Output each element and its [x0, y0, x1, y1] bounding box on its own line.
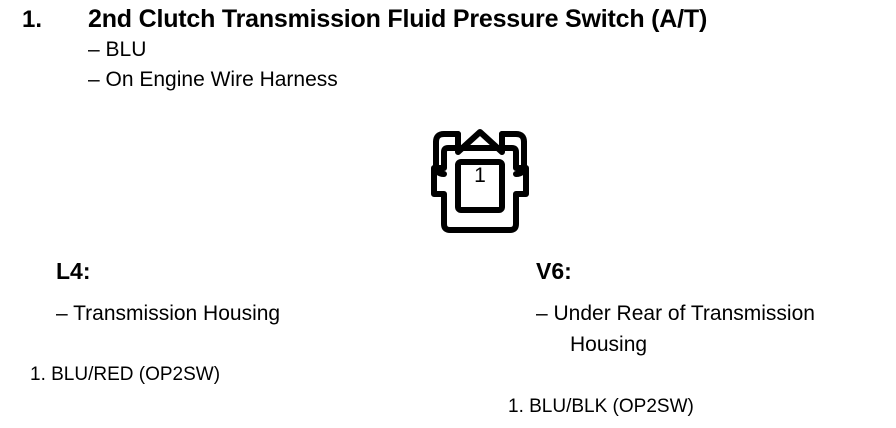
title-row: 1. 2nd Clutch Transmission Fluid Pressur… [0, 2, 896, 36]
right-column-wire-1: 1. BLU/BLK (OP2SW) [508, 396, 694, 418]
right-column-location-line-1: – Under Rear of Transmission [536, 302, 815, 326]
subtitle-line-color: – BLU [88, 38, 146, 62]
page-title: 2nd Clutch Transmission Fluid Pressure S… [88, 5, 707, 34]
subtitle-line-harness: – On Engine Wire Harness [88, 68, 338, 92]
right-column-location-line-2: Housing [570, 333, 647, 357]
left-column-location: – Transmission Housing [56, 302, 280, 326]
item-number: 1. [22, 6, 42, 34]
left-column-heading: L4: [56, 258, 91, 285]
electrical-connector-icon [410, 106, 550, 246]
left-column-wire-1: 1. BLU/RED (OP2SW) [30, 364, 220, 386]
right-column-heading: V6: [536, 258, 572, 285]
